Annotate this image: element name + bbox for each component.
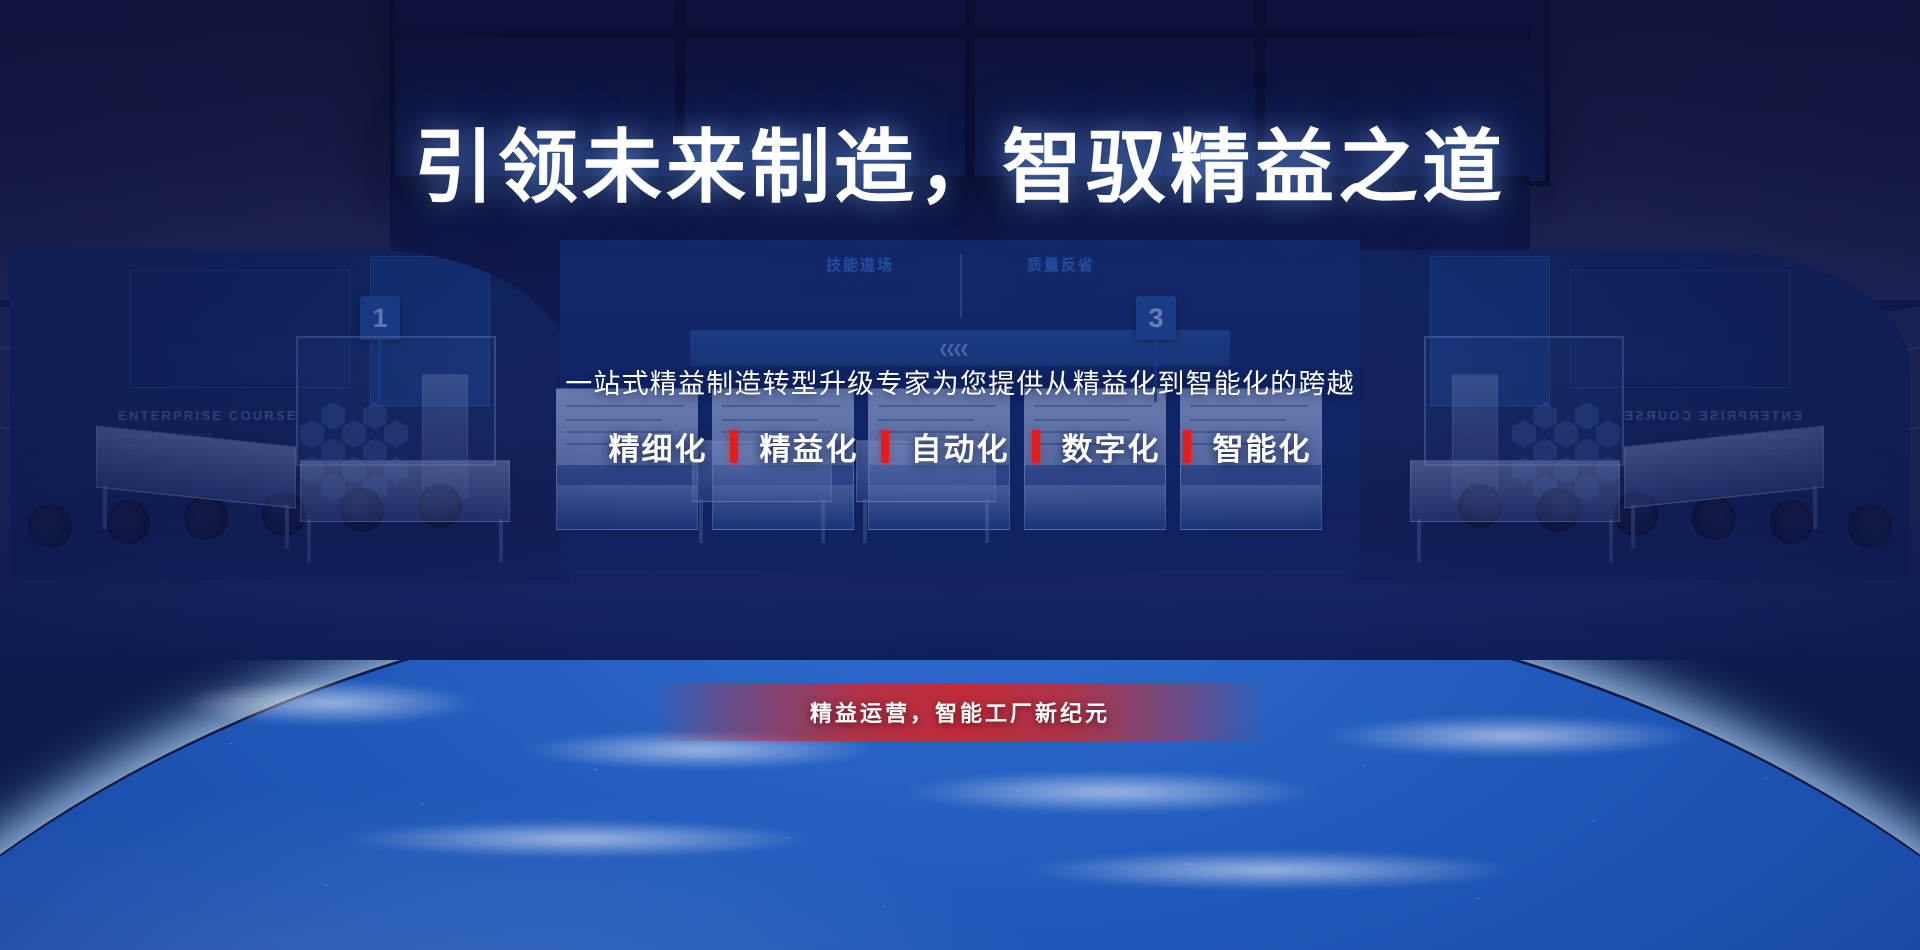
keyword-separator-icon xyxy=(881,430,889,463)
keyword-separator-icon xyxy=(1183,430,1191,463)
keyword-item: 自动化 xyxy=(889,424,1032,469)
keyword-item: 精细化 xyxy=(587,424,730,469)
tagline-badge-wrapper: 精益运营，智能工厂新纪元 xyxy=(0,683,1920,741)
keyword-separator-icon xyxy=(730,430,738,463)
keyword-list: 精细化 精益化 自动化 数字化 智能化 xyxy=(0,424,1920,469)
hero-subtitle: 一站式精益制造转型升级专家为您提供从精益化到智能化的跨越 xyxy=(0,362,1920,401)
tagline-text: 精益运营，智能工厂新纪元 xyxy=(810,696,1110,728)
hero-banner: ENTERPRISE COURSE KEYWORD SEE SOURCE SID… xyxy=(0,0,1920,950)
tagline-badge: 精益运营，智能工厂新纪元 xyxy=(650,683,1270,741)
keyword-item: 数字化 xyxy=(1040,424,1183,469)
keyword-item: 智能化 xyxy=(1191,424,1334,469)
page-title: 引领未来制造，智驭精益之道 xyxy=(0,128,1920,208)
keyword-separator-icon xyxy=(1032,430,1040,463)
keyword-item: 精益化 xyxy=(738,424,881,469)
hero-content: 引领未来制造，智驭精益之道 一站式精益制造转型升级专家为您提供从精益化到智能化的… xyxy=(0,0,1920,950)
